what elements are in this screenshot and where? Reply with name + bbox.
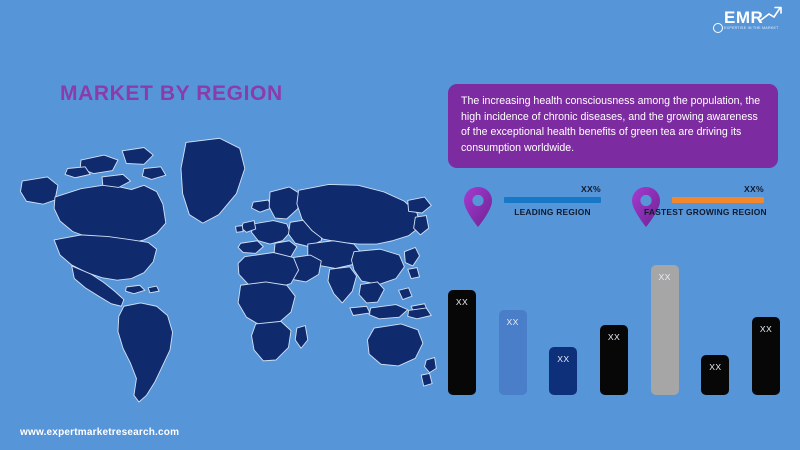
legend-percent-leading: XX% [504, 184, 601, 194]
website-url: www.expertmarketresearch.com [20, 427, 179, 438]
bar-value-label: XX [456, 297, 468, 395]
bar-value-label: XX [659, 272, 671, 395]
legend-bar-leading [504, 197, 601, 203]
bar-2[interactable]: XX [499, 310, 527, 395]
bar-value-label: XX [760, 324, 772, 395]
bar-value-label: XX [709, 362, 721, 395]
page-title: MARKET BY REGION [60, 82, 283, 106]
map-pin-icon [462, 186, 494, 228]
legend-body-leading: XX% LEADING REGION [504, 184, 601, 217]
insight-callout-text: The increasing health consciousness amon… [461, 94, 765, 156]
slide-canvas: EMR EXPERTISE IN THE MARKET MARKET BY RE… [0, 0, 800, 450]
bar-3[interactable]: XX [549, 347, 577, 395]
legend-label-fastest: FASTEST GROWING REGION [644, 207, 736, 217]
legend-body-fastest: XX% FASTEST GROWING REGION [672, 184, 764, 217]
bar-7[interactable]: XX [752, 317, 780, 395]
logo-tagline: EXPERTISE IN THE MARKET [724, 26, 779, 30]
region-legend: XX% LEADING REGION XX% FASTEST GROW [462, 184, 782, 242]
world-map-svg [18, 118, 438, 408]
bar-5[interactable]: XX [651, 265, 679, 395]
world-map [18, 118, 438, 408]
logo-arrow-icon [760, 6, 782, 22]
bar-value-label: XX [557, 354, 569, 395]
bar-value-label: XX [507, 317, 519, 395]
logo-ring-icon [713, 23, 723, 33]
region-bar-chart: XXXXXXXXXXXXXX [448, 255, 780, 395]
bar-value-label: XX [608, 332, 620, 395]
bar-1[interactable]: XX [448, 290, 476, 395]
legend-percent-fastest: XX% [672, 184, 764, 194]
legend-bar-fastest [672, 197, 764, 203]
logo-wordmark: EMR [724, 9, 763, 26]
bar-4[interactable]: XX [600, 325, 628, 395]
legend-label-leading: LEADING REGION [504, 207, 601, 217]
insight-callout: The increasing health consciousness amon… [448, 84, 778, 168]
emr-logo: EMR EXPERTISE IN THE MARKET [710, 8, 788, 38]
bar-6[interactable]: XX [701, 355, 729, 395]
